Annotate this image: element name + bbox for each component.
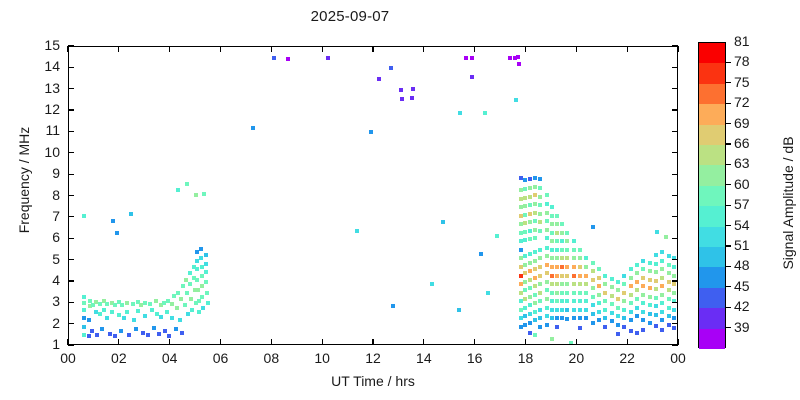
- colorbar-band: [699, 165, 725, 186]
- colorbar-band: [699, 104, 725, 125]
- data-point: [251, 126, 255, 130]
- data-point: [528, 312, 532, 316]
- data-point: [560, 239, 564, 243]
- colorbar-tick-mark: [726, 184, 731, 185]
- data-point: [550, 205, 554, 209]
- data-point: [82, 308, 86, 312]
- data-point: [538, 177, 542, 181]
- data-point: [667, 288, 671, 292]
- data-point: [578, 274, 582, 278]
- data-point: [603, 308, 607, 312]
- data-point: [660, 276, 664, 280]
- y-tick-mark: [672, 88, 678, 89]
- colorbar-tick-mark: [726, 266, 731, 267]
- data-point: [641, 276, 645, 280]
- data-point: [127, 333, 131, 337]
- data-point: [565, 274, 569, 278]
- data-point: [523, 187, 527, 191]
- data-point: [641, 318, 645, 322]
- data-point: [555, 291, 559, 295]
- data-point: [597, 301, 601, 305]
- data-point: [90, 329, 94, 333]
- data-point: [82, 325, 86, 329]
- data-point: [95, 333, 99, 337]
- data-point: [591, 286, 595, 290]
- data-point: [550, 231, 554, 235]
- data-point: [165, 310, 169, 314]
- x-tick-mark: [525, 339, 526, 345]
- y-tick-mark: [672, 302, 678, 303]
- colorbar-tick-label: 39: [734, 319, 764, 335]
- data-point: [528, 303, 532, 307]
- data-point: [523, 280, 527, 284]
- data-point: [572, 316, 576, 320]
- data-point: [629, 276, 633, 280]
- data-point: [538, 325, 542, 329]
- data-point: [528, 278, 532, 282]
- y-tick-mark: [672, 195, 678, 196]
- data-point: [641, 284, 645, 288]
- colorbar-band: [699, 206, 725, 227]
- data-point: [528, 177, 532, 181]
- data-point: [565, 282, 569, 286]
- data-point: [185, 291, 189, 295]
- data-point: [180, 331, 184, 335]
- data-point: [629, 329, 633, 333]
- data-point: [286, 57, 290, 61]
- data-point: [578, 248, 582, 252]
- data-point: [660, 318, 664, 322]
- data-point: [538, 186, 542, 190]
- data-point: [82, 301, 86, 305]
- data-point: [560, 282, 564, 286]
- data-point: [555, 282, 559, 286]
- data-point: [603, 299, 607, 303]
- data-point: [533, 185, 537, 189]
- data-point: [635, 314, 639, 318]
- data-point: [550, 248, 554, 252]
- x-tick-label: 04: [150, 350, 190, 366]
- data-point: [550, 299, 554, 303]
- colorbar-band: [699, 145, 725, 166]
- data-point: [134, 327, 138, 331]
- data-point: [560, 256, 564, 260]
- x-tick-mark: [271, 46, 272, 52]
- y-tick-mark: [68, 302, 74, 303]
- data-point: [550, 256, 554, 260]
- data-point: [528, 295, 532, 299]
- data-point: [533, 301, 537, 305]
- y-axis-label: Frequency / MHz: [16, 80, 32, 280]
- x-tick-mark: [525, 46, 526, 52]
- colorbar-band: [699, 227, 725, 248]
- x-tick-label: 14: [404, 350, 444, 366]
- data-point: [545, 219, 549, 223]
- data-point: [641, 301, 645, 305]
- data-point: [672, 265, 676, 269]
- colorbar-tick-label: 66: [734, 135, 764, 151]
- colorbar-band: [699, 267, 725, 288]
- x-tick-label: 00: [48, 350, 88, 366]
- data-point: [555, 239, 559, 243]
- data-point: [591, 303, 595, 307]
- y-tick-mark: [68, 152, 74, 153]
- x-tick-mark: [423, 46, 424, 52]
- colorbar-tick-label: 42: [734, 298, 764, 314]
- x-tick-mark: [627, 339, 628, 345]
- colorbar-tick-mark: [726, 225, 731, 226]
- x-tick-mark: [627, 46, 628, 52]
- data-point: [667, 263, 671, 267]
- data-point: [667, 306, 671, 310]
- data-point: [667, 314, 671, 318]
- data-point: [120, 303, 124, 307]
- colorbar-tick-mark: [726, 327, 731, 328]
- data-point: [200, 295, 204, 299]
- data-point: [533, 228, 537, 232]
- data-point: [555, 248, 559, 252]
- data-point: [635, 306, 639, 310]
- colorbar-band: [699, 288, 725, 309]
- data-point: [98, 312, 102, 316]
- data-point: [667, 323, 671, 327]
- data-point: [186, 312, 190, 316]
- data-point: [641, 328, 645, 332]
- data-point: [560, 299, 564, 303]
- scatter-data-layer: [69, 47, 677, 344]
- data-point: [629, 310, 633, 314]
- data-point: [82, 333, 86, 337]
- data-point: [584, 274, 588, 278]
- data-point: [629, 267, 633, 271]
- data-point: [648, 286, 652, 290]
- y-tick-mark: [672, 259, 678, 260]
- data-point: [533, 310, 537, 314]
- data-point: [545, 288, 549, 292]
- data-point: [667, 297, 671, 301]
- data-point: [523, 271, 527, 275]
- colorbar-tick-label: 48: [734, 257, 764, 273]
- data-point: [641, 310, 645, 314]
- data-point: [545, 236, 549, 240]
- y-tick-label: 14: [20, 58, 60, 74]
- data-point: [660, 267, 664, 271]
- data-point: [528, 220, 532, 224]
- data-point: [195, 278, 199, 282]
- data-point: [132, 318, 136, 322]
- data-point: [550, 239, 554, 243]
- data-point: [519, 248, 523, 252]
- data-point: [479, 252, 483, 256]
- data-point: [572, 256, 576, 260]
- y-tick-mark: [68, 323, 74, 324]
- y-tick-label: 2: [20, 315, 60, 331]
- data-point: [555, 299, 559, 303]
- data-point: [667, 254, 671, 258]
- data-point: [672, 291, 676, 295]
- data-point: [584, 299, 588, 303]
- data-point: [167, 334, 171, 338]
- data-point: [190, 308, 194, 312]
- data-point: [569, 341, 573, 345]
- data-point: [565, 248, 569, 252]
- data-point: [584, 308, 588, 312]
- data-point: [87, 334, 91, 338]
- x-tick-label: 02: [99, 350, 139, 366]
- colorbar-tick-label: 54: [734, 217, 764, 233]
- data-point: [572, 282, 576, 286]
- data-point: [648, 278, 652, 282]
- data-point: [200, 274, 204, 278]
- data-point: [597, 276, 601, 280]
- data-point: [188, 282, 192, 286]
- data-point: [152, 326, 156, 330]
- data-point: [572, 274, 576, 278]
- data-point: [196, 288, 200, 292]
- x-tick-mark: [169, 46, 170, 52]
- data-point: [565, 256, 569, 260]
- data-point: [538, 203, 542, 207]
- data-point: [560, 316, 564, 320]
- data-point: [528, 229, 532, 233]
- x-tick-label: 22: [607, 350, 647, 366]
- colorbar-tick-mark: [726, 286, 731, 287]
- data-point: [528, 186, 532, 190]
- data-point: [591, 321, 595, 325]
- y-tick-mark: [68, 174, 74, 175]
- data-point: [635, 263, 639, 267]
- data-point: [470, 56, 474, 60]
- data-point: [572, 239, 576, 243]
- data-point: [565, 299, 569, 303]
- data-point: [523, 314, 527, 318]
- data-point: [189, 297, 193, 301]
- data-point: [533, 250, 537, 254]
- data-point: [555, 214, 559, 218]
- data-point: [616, 323, 620, 327]
- data-point: [154, 299, 158, 303]
- x-tick-label: 06: [201, 350, 241, 366]
- data-point: [635, 280, 639, 284]
- data-point: [195, 250, 199, 254]
- data-point: [528, 195, 532, 199]
- data-point: [174, 327, 178, 331]
- data-point: [641, 293, 645, 297]
- data-point: [105, 316, 109, 320]
- data-point: [538, 229, 542, 233]
- data-point: [533, 219, 537, 223]
- data-point: [545, 202, 549, 206]
- data-point: [616, 297, 620, 301]
- data-point: [603, 274, 607, 278]
- data-point: [550, 214, 554, 218]
- data-point: [654, 296, 658, 300]
- data-point: [584, 256, 588, 260]
- data-point: [533, 236, 537, 240]
- data-point: [176, 291, 180, 295]
- data-point: [523, 288, 527, 292]
- data-point: [131, 302, 135, 306]
- colorbar-tick-mark: [726, 82, 731, 83]
- data-point: [82, 214, 86, 218]
- data-point: [178, 318, 182, 322]
- x-tick-label: 00: [658, 350, 698, 366]
- y-tick-label: 15: [20, 37, 60, 53]
- x-tick-mark: [322, 46, 323, 52]
- colorbar-tick-mark: [726, 62, 731, 63]
- data-point: [170, 302, 174, 306]
- data-point: [584, 316, 588, 320]
- data-point: [533, 211, 537, 215]
- data-point: [185, 182, 189, 186]
- x-tick-mark: [474, 46, 475, 52]
- data-point: [654, 324, 658, 328]
- data-point: [410, 96, 414, 100]
- data-point: [538, 282, 542, 286]
- data-point: [389, 66, 393, 70]
- data-point: [528, 286, 532, 290]
- data-point: [197, 310, 201, 314]
- data-point: [660, 310, 664, 314]
- data-point: [464, 56, 468, 60]
- data-point: [616, 288, 620, 292]
- data-point: [110, 310, 114, 314]
- data-point: [654, 253, 658, 257]
- data-point: [648, 295, 652, 299]
- y-tick-mark: [672, 131, 678, 132]
- data-point: [550, 291, 554, 295]
- data-point: [148, 302, 152, 306]
- data-point: [654, 304, 658, 308]
- data-point: [441, 220, 445, 224]
- data-point: [105, 302, 109, 306]
- data-point: [538, 212, 542, 216]
- data-point: [555, 231, 559, 235]
- x-tick-label: 20: [556, 350, 596, 366]
- colorbar-band: [699, 308, 725, 329]
- data-point: [111, 219, 115, 223]
- data-point: [560, 222, 564, 226]
- y-tick-mark: [672, 344, 678, 345]
- colorbar-tick-mark: [726, 245, 731, 246]
- data-point: [578, 256, 582, 260]
- data-point: [528, 237, 532, 241]
- colorbar-label: Signal Amplitude / dB: [780, 103, 796, 303]
- data-point: [545, 306, 549, 310]
- data-point: [603, 316, 607, 320]
- data-point: [654, 262, 658, 266]
- data-point: [565, 231, 569, 235]
- y-tick-mark: [672, 238, 678, 239]
- data-point: [550, 265, 554, 269]
- ionogram-chart-panel: 2025-09-07 00020406081012141618202200 12…: [0, 0, 800, 400]
- data-point: [157, 332, 161, 336]
- data-point: [578, 265, 582, 269]
- data-point: [141, 331, 145, 335]
- data-point: [326, 56, 330, 60]
- data-point: [150, 308, 154, 312]
- data-point: [538, 274, 542, 278]
- data-point: [578, 291, 582, 295]
- x-tick-mark: [576, 339, 577, 345]
- data-point: [391, 304, 395, 308]
- colorbar-band: [699, 247, 725, 268]
- data-point: [560, 265, 564, 269]
- data-point: [572, 308, 576, 312]
- x-tick-mark: [118, 46, 119, 52]
- data-point: [528, 252, 532, 256]
- colorbar-tick-mark: [726, 143, 731, 144]
- data-point: [616, 306, 620, 310]
- data-point: [146, 333, 150, 337]
- data-point: [591, 295, 595, 299]
- data-point: [550, 222, 554, 226]
- data-point: [648, 312, 652, 316]
- data-point: [533, 176, 537, 180]
- data-point: [545, 297, 549, 301]
- y-tick-mark: [68, 238, 74, 239]
- data-point: [555, 274, 559, 278]
- data-point: [194, 193, 198, 197]
- data-point: [655, 230, 659, 234]
- data-point: [555, 316, 559, 320]
- data-point: [597, 318, 601, 322]
- data-point: [555, 256, 559, 260]
- y-tick-mark: [672, 152, 678, 153]
- data-point: [584, 282, 588, 286]
- data-point: [660, 301, 664, 305]
- data-point: [603, 291, 607, 295]
- data-point: [591, 278, 595, 282]
- data-point: [523, 213, 527, 217]
- colorbar-tick-label: 75: [734, 74, 764, 90]
- data-point: [578, 308, 582, 312]
- data-point: [591, 225, 595, 229]
- y-tick-mark: [672, 323, 678, 324]
- data-point: [129, 212, 133, 216]
- data-point: [176, 188, 180, 192]
- colorbar-tick-label: 63: [734, 155, 764, 171]
- data-point: [660, 293, 664, 297]
- data-point: [195, 259, 199, 263]
- data-point: [622, 291, 626, 295]
- data-point: [622, 316, 626, 320]
- data-point: [115, 231, 119, 235]
- data-point: [616, 332, 620, 336]
- x-tick-mark: [576, 46, 577, 52]
- y-tick-mark: [68, 131, 74, 132]
- y-tick-mark: [672, 174, 678, 175]
- x-tick-mark: [372, 46, 373, 52]
- data-point: [629, 318, 633, 322]
- x-tick-mark: [372, 339, 373, 345]
- data-point: [514, 98, 518, 102]
- data-point: [610, 294, 614, 298]
- data-point: [560, 291, 564, 295]
- colorbar-tick-label: 72: [734, 94, 764, 110]
- data-point: [560, 231, 564, 235]
- y-tick-mark: [68, 259, 74, 260]
- data-point: [545, 246, 549, 250]
- data-point: [565, 317, 569, 321]
- data-point: [538, 248, 542, 252]
- data-point: [660, 259, 664, 263]
- data-point: [533, 276, 537, 280]
- data-point: [528, 212, 532, 216]
- data-point: [430, 282, 434, 286]
- colorbar-tick-label: 45: [734, 278, 764, 294]
- x-tick-mark: [271, 339, 272, 345]
